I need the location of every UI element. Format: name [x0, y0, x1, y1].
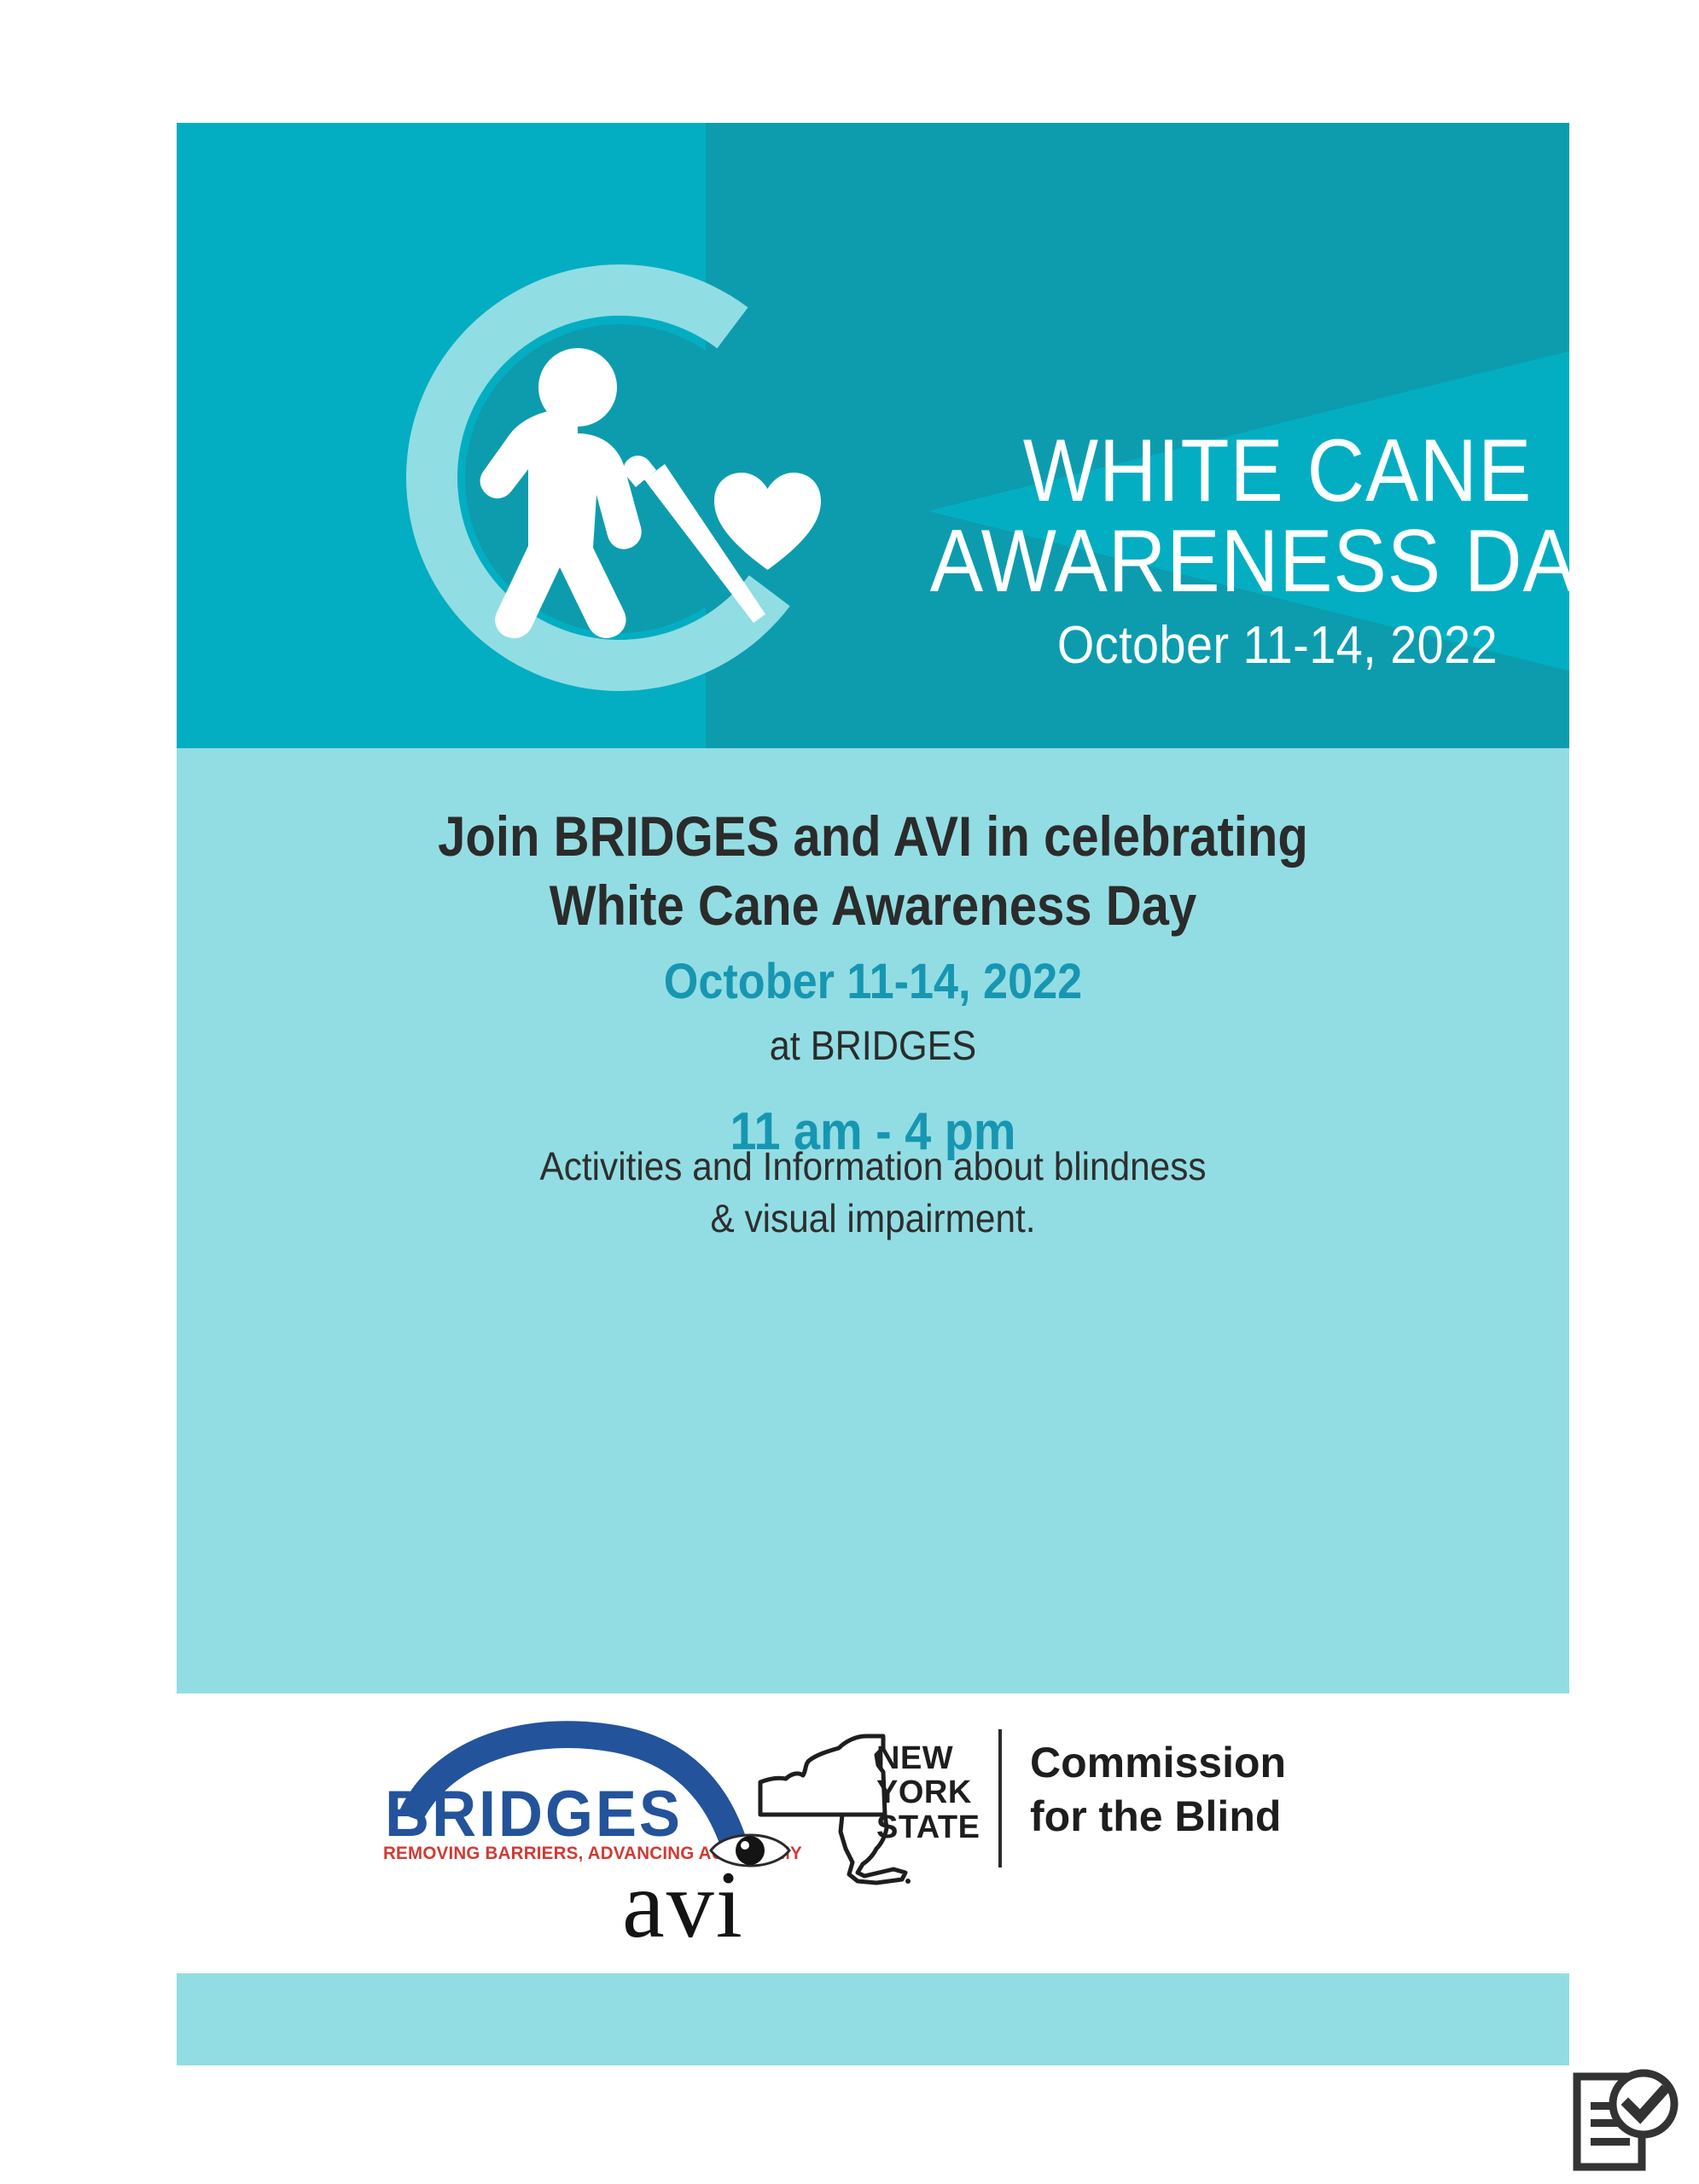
nys-line3: STATE [876, 1810, 980, 1844]
nys-commission-logo: NEW YORK STATE Commission for the Blind [757, 1729, 1269, 1891]
body-line2: White Cane Awareness Day [260, 871, 1486, 940]
header-title-line1: WHITE CANE [870, 426, 1569, 516]
header-banner: WHITE CANE AWARENESS DAY October 11-14, … [177, 123, 1569, 748]
nys-divider [998, 1729, 1002, 1867]
nys-line1: NEW [876, 1741, 980, 1775]
poster-page: WHITE CANE AWARENESS DAY October 11-14, … [0, 0, 1699, 2184]
body-panel: Join BRIDGES and AVI in celebrating Whit… [177, 748, 1569, 1693]
nys-stack-text: NEW YORK STATE [876, 1741, 980, 1844]
header-title-block: WHITE CANE AWARENESS DAY October 11-14, … [825, 426, 1569, 676]
document-verified-check-icon [1568, 2068, 1681, 2175]
body-main-text: Join BRIDGES and AVI in celebrating Whit… [177, 802, 1569, 1166]
nys-line2: YORK [876, 1775, 980, 1809]
logo-band: BRIDGES REMOVING BARRIERS, ADVANCING AUT… [177, 1693, 1569, 1973]
body-activities-text: Activities and Information about blindne… [177, 1141, 1569, 1244]
body-date: October 11-14, 2022 [247, 950, 1500, 1014]
header-title-line2: AWARENESS DAY [870, 516, 1569, 607]
header-date: October 11-14, 2022 [870, 615, 1569, 676]
commission-line2: for the Blind [1030, 1790, 1286, 1844]
bridges-wordmark: BRIDGES [385, 1777, 683, 1851]
activities-line2: & visual impairment. [232, 1193, 1513, 1245]
body-line1: Join BRIDGES and AVI in celebrating [260, 802, 1486, 871]
activities-line1: Activities and Information about blindne… [232, 1141, 1513, 1193]
footer-band [177, 1973, 1569, 2065]
commission-line1: Commission [1030, 1736, 1286, 1790]
nys-commission-text: Commission for the Blind [1030, 1736, 1286, 1843]
heart-icon [714, 473, 821, 575]
body-location: at BRIDGES [247, 1020, 1500, 1073]
avi-wordmark: avi [622, 1857, 744, 1953]
